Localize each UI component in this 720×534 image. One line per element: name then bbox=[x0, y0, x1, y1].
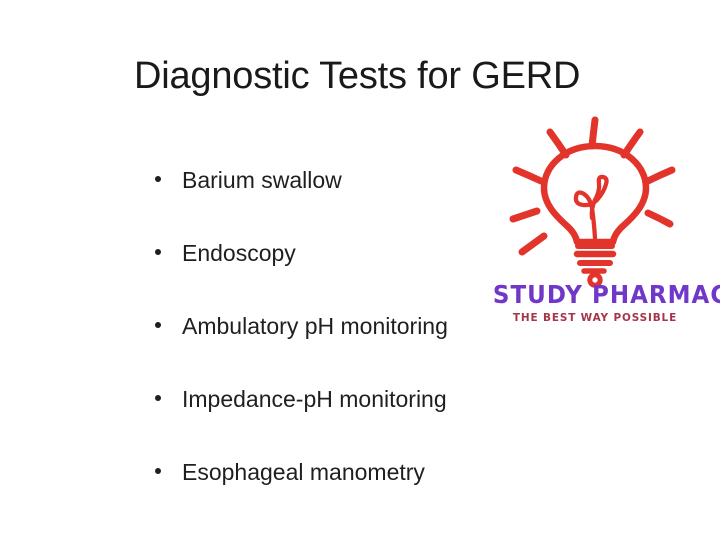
bullet-dot-icon bbox=[155, 176, 161, 182]
list-item-label: Esophageal manometry bbox=[182, 459, 425, 485]
list-item: Esophageal manometry bbox=[150, 457, 570, 530]
list-item-label: Barium swallow bbox=[182, 167, 342, 193]
list-item-label: Endoscopy bbox=[182, 240, 296, 266]
list-item: Impedance-pH monitoring bbox=[150, 384, 570, 457]
lightbulb-icon bbox=[500, 112, 690, 292]
list-item-label: Impedance-pH monitoring bbox=[182, 386, 447, 412]
logo-tagline: THE BEST WAY POSSIBLE bbox=[490, 311, 701, 324]
list-item-label: Ambulatory pH monitoring bbox=[182, 313, 448, 339]
bullet-dot-icon bbox=[155, 249, 161, 255]
bullet-dot-icon bbox=[155, 322, 161, 328]
page-title: Diagnostic Tests for GERD bbox=[134, 53, 654, 99]
logo-wordmark: STUDY PHARMACY bbox=[493, 280, 697, 309]
bullet-dot-icon bbox=[155, 395, 161, 401]
slide-canvas: Diagnostic Tests for GERD Barium swallow… bbox=[0, 0, 720, 534]
bullet-dot-icon bbox=[155, 468, 161, 474]
study-pharmacy-logo: STUDY PHARMACY THE BEST WAY POSSIBLE bbox=[484, 112, 706, 334]
